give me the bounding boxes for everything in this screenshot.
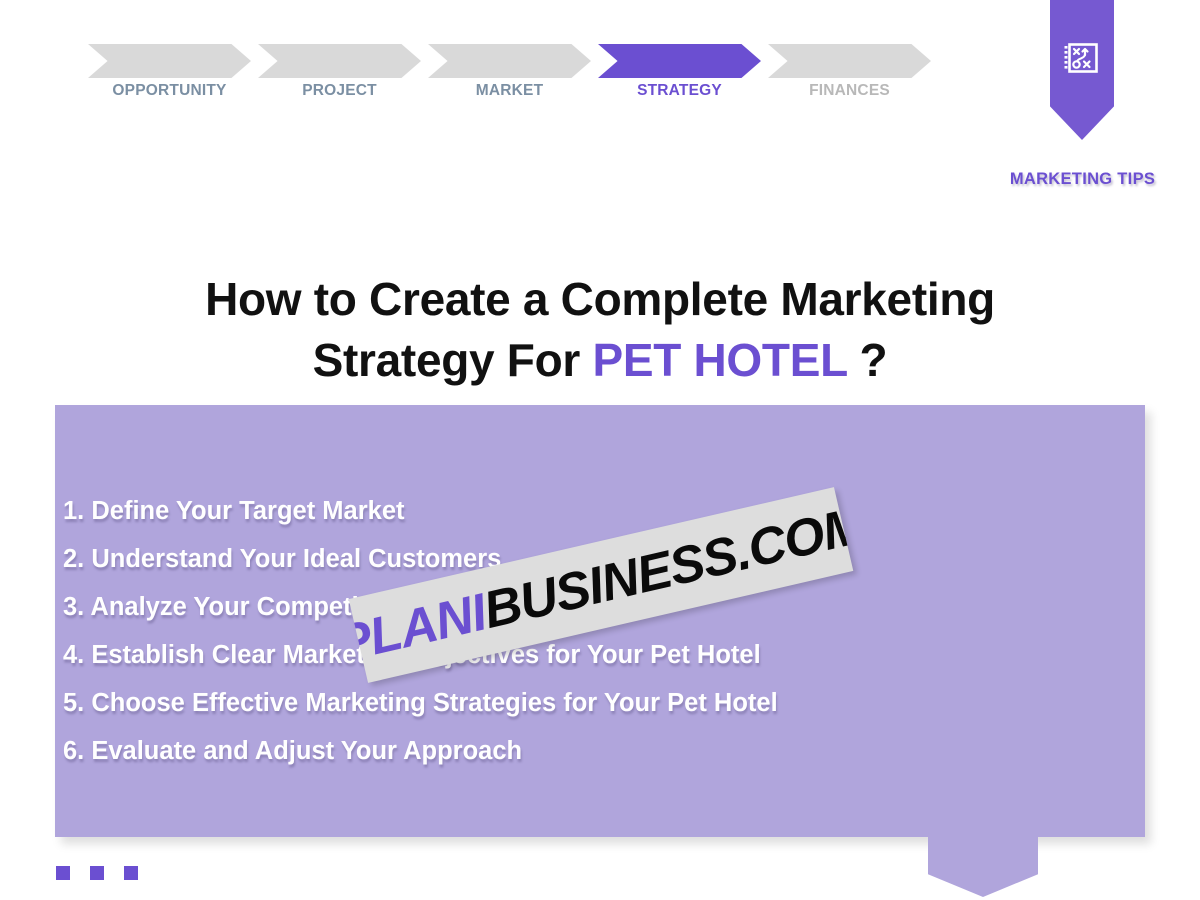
step-opportunity[interactable]: OPPORTUNITY: [88, 44, 258, 78]
marketing-tips-ribbon: [1050, 0, 1114, 140]
breadcrumb-step-nav: OPPORTUNITY PROJECT MARKET STRATEGY FINA…: [88, 44, 938, 110]
headline-line-1: How to Create a Complete Marketing: [205, 273, 995, 325]
step-finances[interactable]: FINANCES: [768, 44, 938, 78]
list-item: 5. Choose Effective Marketing Strategies…: [63, 679, 1083, 727]
ribbon-caption: MARKETING TIPS: [990, 170, 1175, 189]
pager-dot[interactable]: [56, 866, 70, 880]
step-label-market: MARKET: [428, 82, 591, 100]
list-item: 4. Establish Clear Marketing Objectives …: [63, 631, 1083, 679]
step-label-opportunity: OPPORTUNITY: [88, 82, 251, 100]
list-item: 6. Evaluate and Adjust Your Approach: [63, 727, 1083, 775]
step-label-project: PROJECT: [258, 82, 421, 100]
chevron-shape-market: [428, 44, 591, 78]
pager-dot[interactable]: [90, 866, 104, 880]
chevron-shape-strategy: [598, 44, 761, 78]
chevron-shape-opportunity: [88, 44, 251, 78]
step-strategy[interactable]: STRATEGY: [598, 44, 768, 78]
chevron-shape-finances: [768, 44, 931, 78]
step-label-finances: FINANCES: [768, 82, 931, 100]
step-project[interactable]: PROJECT: [258, 44, 428, 78]
step-market[interactable]: MARKET: [428, 44, 598, 78]
chevron-shape-project: [258, 44, 421, 78]
list-item: 1. Define Your Target Market: [63, 487, 1083, 535]
strategy-playbook-icon: [1063, 40, 1101, 78]
page-title: How to Create a Complete Marketing Strat…: [60, 269, 1140, 391]
step-label-strategy: STRATEGY: [598, 82, 761, 100]
headline-line-2-suffix: ?: [847, 334, 887, 386]
pager-dot[interactable]: [124, 866, 138, 880]
headline-accent-term: PET HOTEL: [592, 334, 847, 386]
headline-line-2-prefix: Strategy For: [313, 334, 593, 386]
panel-bottom-arrow-tab: [928, 837, 1038, 897]
pager-dots: [56, 866, 138, 880]
